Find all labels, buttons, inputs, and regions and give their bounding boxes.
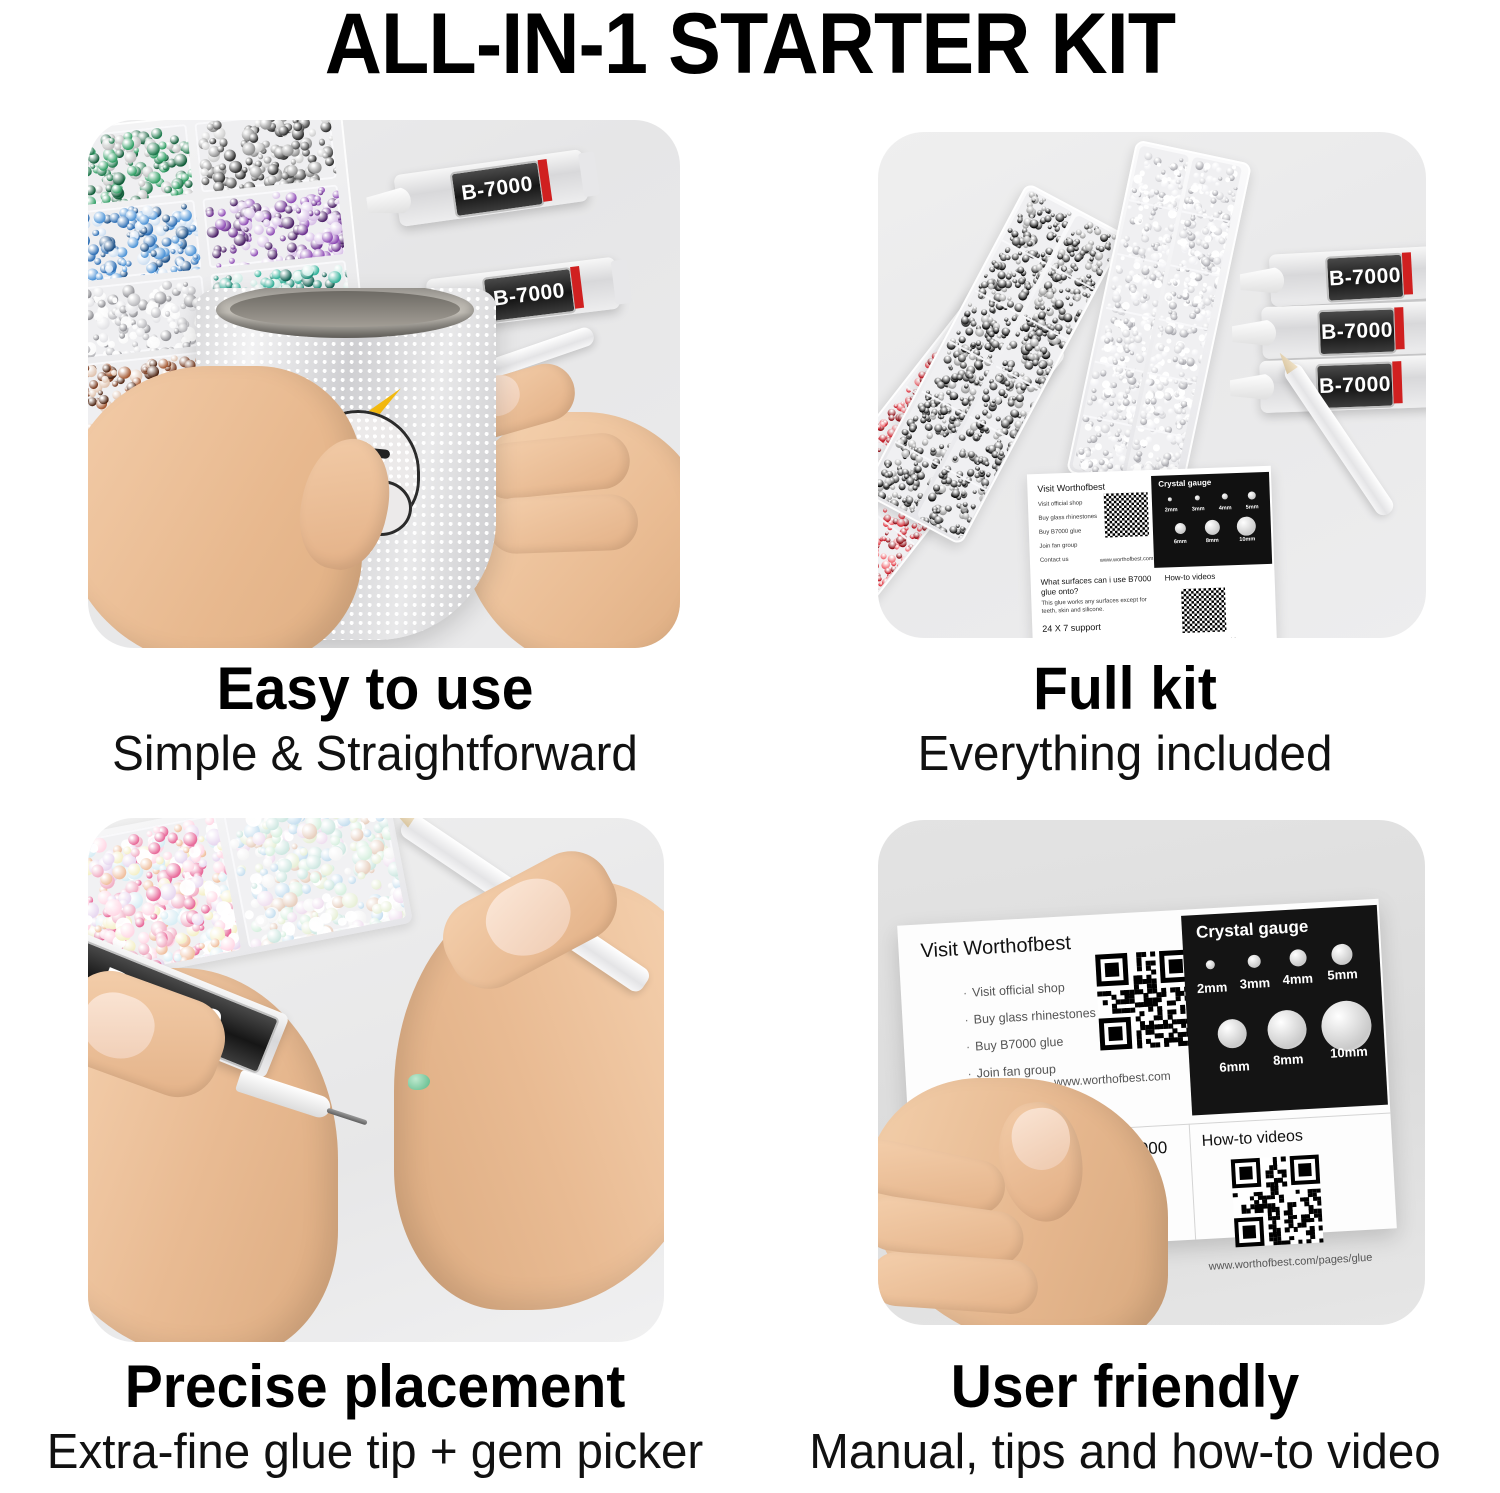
gauge-stone-5mm	[1331, 943, 1353, 965]
card-howto-url: www.worthofbest.com/pages/glue	[1167, 637, 1242, 638]
gauge-label: 4mm	[1212, 505, 1238, 512]
tray-compartment	[194, 120, 337, 193]
caption-user-friendly: User friendly Manual, tips and how-to vi…	[750, 1356, 1500, 1480]
gauge-stone	[1222, 493, 1228, 499]
caption-title: Precise placement	[19, 1356, 732, 1418]
b7000-glue-tube: B-7000	[1269, 245, 1426, 306]
gauge-stone	[1248, 491, 1256, 499]
card-visit-title: Visit Worthofbest	[1037, 482, 1105, 494]
gauge-label: 3mm	[1185, 506, 1211, 513]
glue-brand-text: B-7000	[492, 279, 566, 312]
glue-cap	[578, 151, 600, 197]
card-howto-title: How-to videos	[1201, 1127, 1303, 1151]
glue-brand-text: B-7000	[1321, 319, 1394, 345]
b7000-glue-tube: B-7000	[1261, 301, 1426, 359]
qr-code	[1095, 949, 1196, 1050]
gauge-label: 5mm	[1239, 504, 1265, 511]
card-question: What surfaces can i use B7000 glue onto?	[1041, 574, 1160, 598]
caption-title: Easy to use	[19, 658, 732, 720]
gauge-stone	[1237, 516, 1257, 536]
gauge-label-5mm: 5mm	[1323, 966, 1362, 983]
card-support-title: 24 X 7 support	[1042, 622, 1101, 634]
tray-compartment	[88, 124, 194, 208]
panel-photo-precise-placement: B-7000	[88, 818, 664, 1342]
qr-code	[1104, 492, 1150, 538]
gauge-stone	[1168, 497, 1172, 501]
card-answer: This glue works any surfaces except for …	[1041, 596, 1159, 616]
glue-nozzle	[1239, 266, 1284, 296]
panel-photo-full-kit: B-7000 B-7000 B-7000 Visit Worthofbest V…	[878, 132, 1426, 638]
caption-full-kit: Full kit Everything included	[750, 658, 1500, 782]
card-link: Contact us	[1040, 557, 1069, 564]
gauge-label-6mm: 6mm	[1213, 1058, 1256, 1075]
caption-title: User friendly	[769, 1356, 1482, 1418]
instruction-card: Visit Worthofbest Visit official shop Bu…	[1027, 466, 1277, 638]
card-visit-title: Visit Worthofbest	[920, 932, 1072, 963]
clear-rhinestone-tray	[1066, 139, 1252, 496]
glue-red-stripe	[1392, 361, 1402, 403]
tray-compartment	[223, 818, 406, 948]
gauge-label-8mm: 8mm	[1267, 1051, 1310, 1068]
card-divider	[1189, 1124, 1196, 1240]
glue-brand-text: B-7000	[1329, 264, 1402, 292]
finger	[487, 493, 639, 554]
caption-easy-to-use: Easy to use Simple & Straightforward	[0, 658, 750, 782]
tumbler-rim	[216, 288, 474, 338]
gauge-label-3mm: 3mm	[1236, 975, 1275, 992]
gauge-stone-4mm	[1289, 949, 1307, 967]
gauge-label: 2mm	[1158, 507, 1184, 514]
qr-code	[1231, 1155, 1324, 1248]
tray-compartment	[202, 184, 345, 268]
finger	[878, 1250, 1040, 1316]
page-title: ALL-IN-1 STARTER KIT	[60, 0, 1440, 92]
glue-cap	[611, 259, 632, 305]
crystal-gauge-chart: Crystal gauge 2mm 3mm 4mm 5mm 6mm 8mm 10…	[1181, 905, 1388, 1116]
gauge-stone	[1195, 495, 1200, 500]
gauge-stone	[1175, 523, 1186, 534]
gauge-title: Crystal gauge	[1158, 478, 1211, 489]
glue-red-stripe	[1402, 252, 1413, 294]
caption-precise-placement: Precise placement Extra-fine glue tip + …	[0, 1356, 750, 1480]
card-link: Buy glass rhinestones	[1038, 514, 1097, 522]
caption-subtitle: Manual, tips and how-to video	[761, 1424, 1489, 1480]
gauge-stone-6mm	[1217, 1018, 1248, 1049]
crystal-gauge-chart: Crystal gauge 2mm 3mm 4mm 5mm 6mm 8mm 10…	[1151, 472, 1272, 568]
b7000-glue-tube: B-7000	[393, 149, 588, 227]
gauge-stone-8mm	[1267, 1009, 1308, 1050]
card-howto-url: www.worthofbest.com/pages/glue	[1208, 1252, 1372, 1273]
gauge-label-4mm: 4mm	[1278, 970, 1317, 987]
glue-nozzle	[1230, 373, 1275, 403]
glue-brand-text: B-7000	[1319, 373, 1392, 399]
caption-title: Full kit	[769, 658, 1482, 720]
gauge-stone-2mm	[1206, 960, 1215, 969]
gauge-label-2mm: 2mm	[1193, 979, 1232, 996]
card-link: Join fan group	[1039, 543, 1077, 550]
card-site-url: www.worthofbest.com	[1100, 556, 1154, 564]
gauge-label: 8mm	[1199, 537, 1225, 544]
glue-label: B-7000	[1317, 307, 1397, 356]
glue-label: B-7000	[449, 160, 545, 218]
product-infographic: ALL-IN-1 STARTER KIT B-7000 B-7000	[0, 0, 1500, 1493]
glue-brand-text: B-7000	[460, 172, 535, 206]
glue-nozzle	[365, 185, 412, 219]
tray-compartment	[88, 275, 210, 359]
gauge-label: 10mm	[1233, 536, 1261, 543]
gauge-label-10mm: 10mm	[1325, 1043, 1374, 1061]
card-link: Visit official shop	[1038, 500, 1083, 508]
gauge-title: Crystal gauge	[1195, 917, 1308, 943]
gauge-stone	[1205, 520, 1221, 536]
glue-label: B-7000	[1315, 361, 1395, 410]
caption-subtitle: Everything included	[761, 726, 1489, 782]
card-link: Buy B7000 glue	[1039, 528, 1082, 535]
panel-photo-user-friendly: Visit Worthofbest Visit official shop Bu…	[878, 820, 1425, 1325]
qr-code	[1181, 587, 1227, 633]
glue-label: B-7000	[1325, 253, 1405, 303]
glue-red-stripe	[1394, 307, 1404, 349]
gauge-label: 6mm	[1167, 539, 1193, 546]
caption-subtitle: Simple & Straightforward	[11, 726, 739, 782]
caption-subtitle: Extra-fine glue tip + gem picker	[11, 1424, 739, 1480]
card-howto-title: How-to videos	[1164, 572, 1215, 583]
tray-compartment	[88, 199, 202, 283]
glue-nozzle	[1232, 319, 1277, 349]
panel-photo-easy-to-use: B-7000 B-7000	[88, 120, 680, 648]
gauge-stone-3mm	[1247, 954, 1261, 968]
